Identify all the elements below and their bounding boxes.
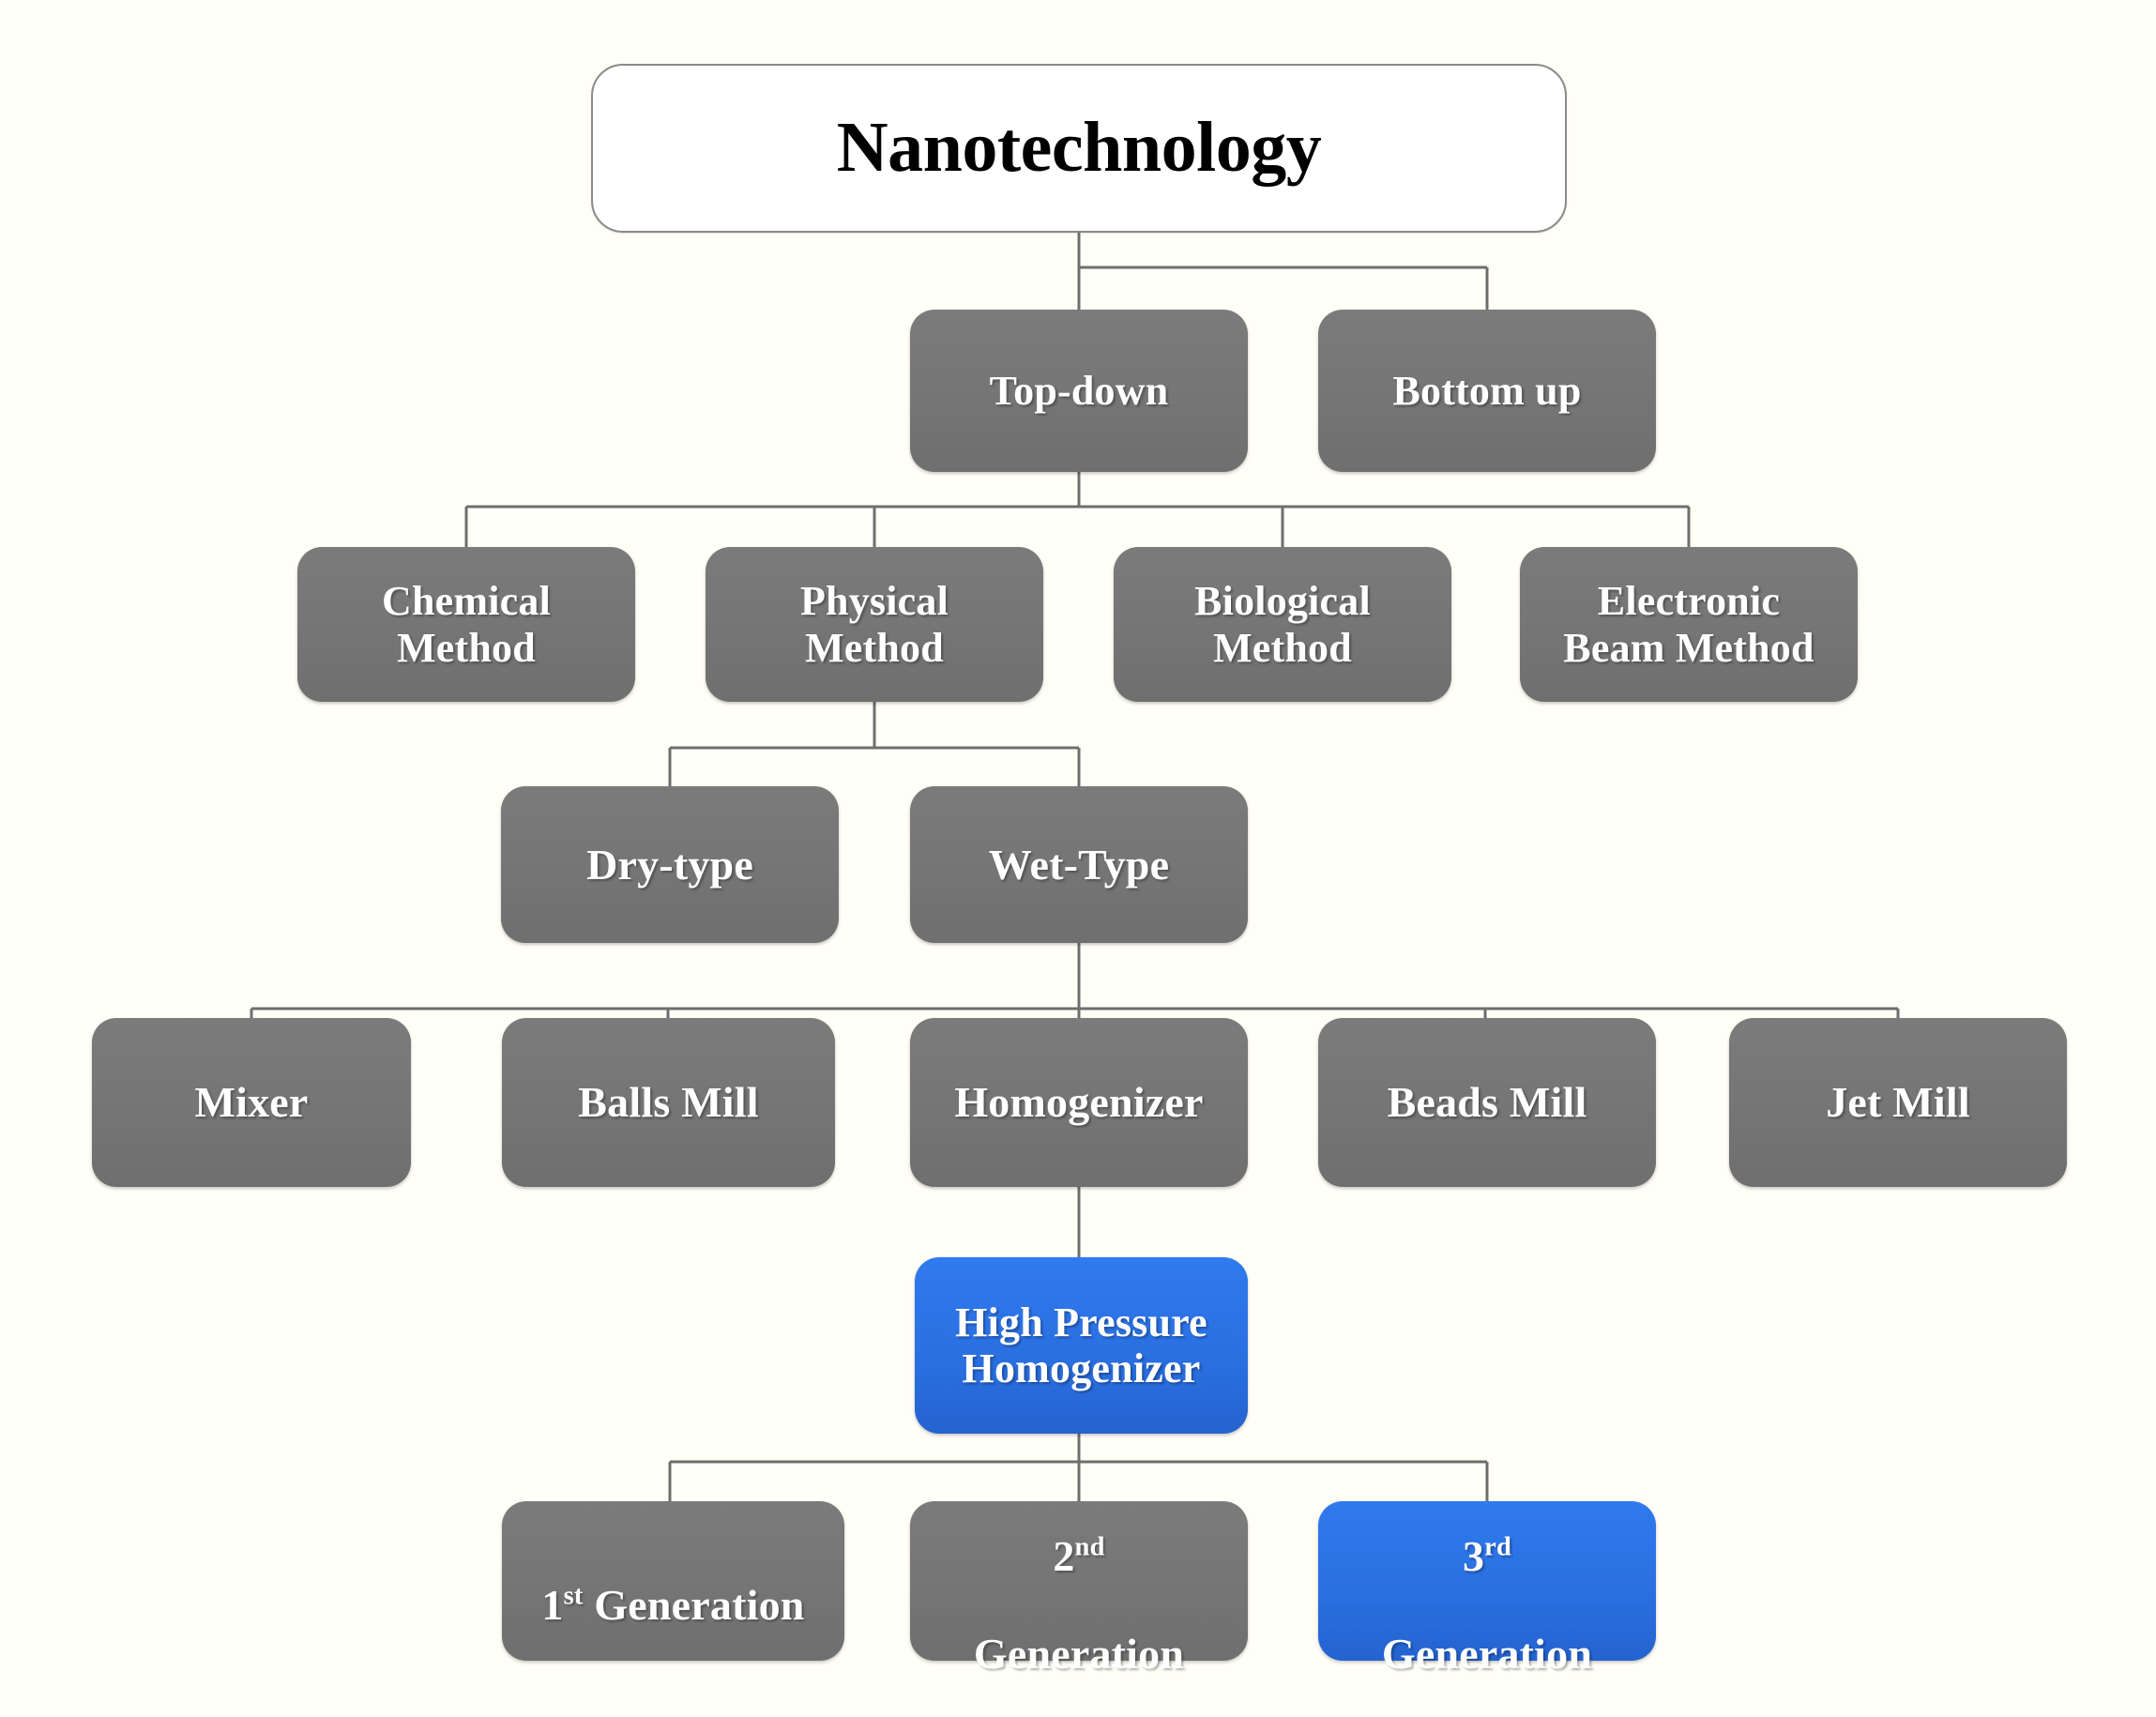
node-chemical-method[interactable]: Chemical Method (297, 547, 635, 702)
node-label: Chemical Method (297, 578, 635, 671)
node-label: Physical Method (706, 578, 1043, 671)
node-dry-type[interactable]: Dry-type (501, 786, 839, 943)
node-mixer[interactable]: Mixer (92, 1018, 411, 1187)
node-label: Wet-Type (910, 841, 1248, 889)
node-label: High Pressure Homogenizer (915, 1299, 1248, 1392)
generation-ordinal-suffix: rd (1484, 1533, 1511, 1562)
node-biological-method[interactable]: Biological Method (1114, 547, 1451, 702)
node-beads-mill[interactable]: Beads Mill (1318, 1018, 1656, 1187)
node-label: Bottom up (1318, 368, 1656, 414)
generation-ordinal-suffix: st (564, 1582, 584, 1611)
node-generation-2[interactable]: 2nd Generation (910, 1501, 1248, 1661)
node-label: Homogenizer (910, 1078, 1248, 1127)
node-high-pressure-homogenizer[interactable]: High Pressure Homogenizer (915, 1257, 1248, 1434)
node-generation-3[interactable]: 3rd Generation (1318, 1501, 1656, 1661)
node-label: Top-down (910, 368, 1248, 414)
node-generation-1[interactable]: 1st Generation (502, 1501, 844, 1661)
node-label: 3rd Generation (1318, 1484, 1656, 1678)
node-label: Balls Mill (502, 1078, 835, 1127)
generation-number: 1 (541, 1581, 563, 1629)
generation-number: 3 (1463, 1532, 1484, 1580)
node-jet-mill[interactable]: Jet Mill (1729, 1018, 2067, 1187)
node-label: Dry-type (501, 841, 839, 889)
node-label: Electronic Beam Method (1520, 578, 1858, 671)
node-electronic-beam-method[interactable]: Electronic Beam Method (1520, 547, 1858, 702)
node-bottom-up[interactable]: Bottom up (1318, 310, 1656, 472)
node-nanotechnology[interactable]: Nanotechnology (591, 64, 1567, 233)
generation-word: Generation (1382, 1630, 1592, 1678)
generation-word: Generation (584, 1581, 805, 1629)
node-wet-type[interactable]: Wet-Type (910, 786, 1248, 943)
node-label: Beads Mill (1318, 1078, 1656, 1127)
node-homogenizer[interactable]: Homogenizer (910, 1018, 1248, 1187)
node-label: 1st Generation (502, 1532, 844, 1629)
node-label: Mixer (92, 1078, 411, 1127)
node-label: Nanotechnology (593, 108, 1565, 188)
generation-ordinal-suffix: nd (1075, 1533, 1105, 1562)
node-label: Biological Method (1114, 578, 1451, 671)
node-physical-method[interactable]: Physical Method (706, 547, 1043, 702)
node-balls-mill[interactable]: Balls Mill (502, 1018, 835, 1187)
diagram-canvas: Nanotechnology Top-down Bottom up Chemic… (0, 0, 2156, 1717)
generation-number: 2 (1053, 1532, 1074, 1580)
node-top-down[interactable]: Top-down (910, 310, 1248, 472)
node-label: Jet Mill (1729, 1078, 2067, 1127)
node-label: 2nd Generation (910, 1484, 1248, 1678)
generation-word: Generation (974, 1630, 1184, 1678)
